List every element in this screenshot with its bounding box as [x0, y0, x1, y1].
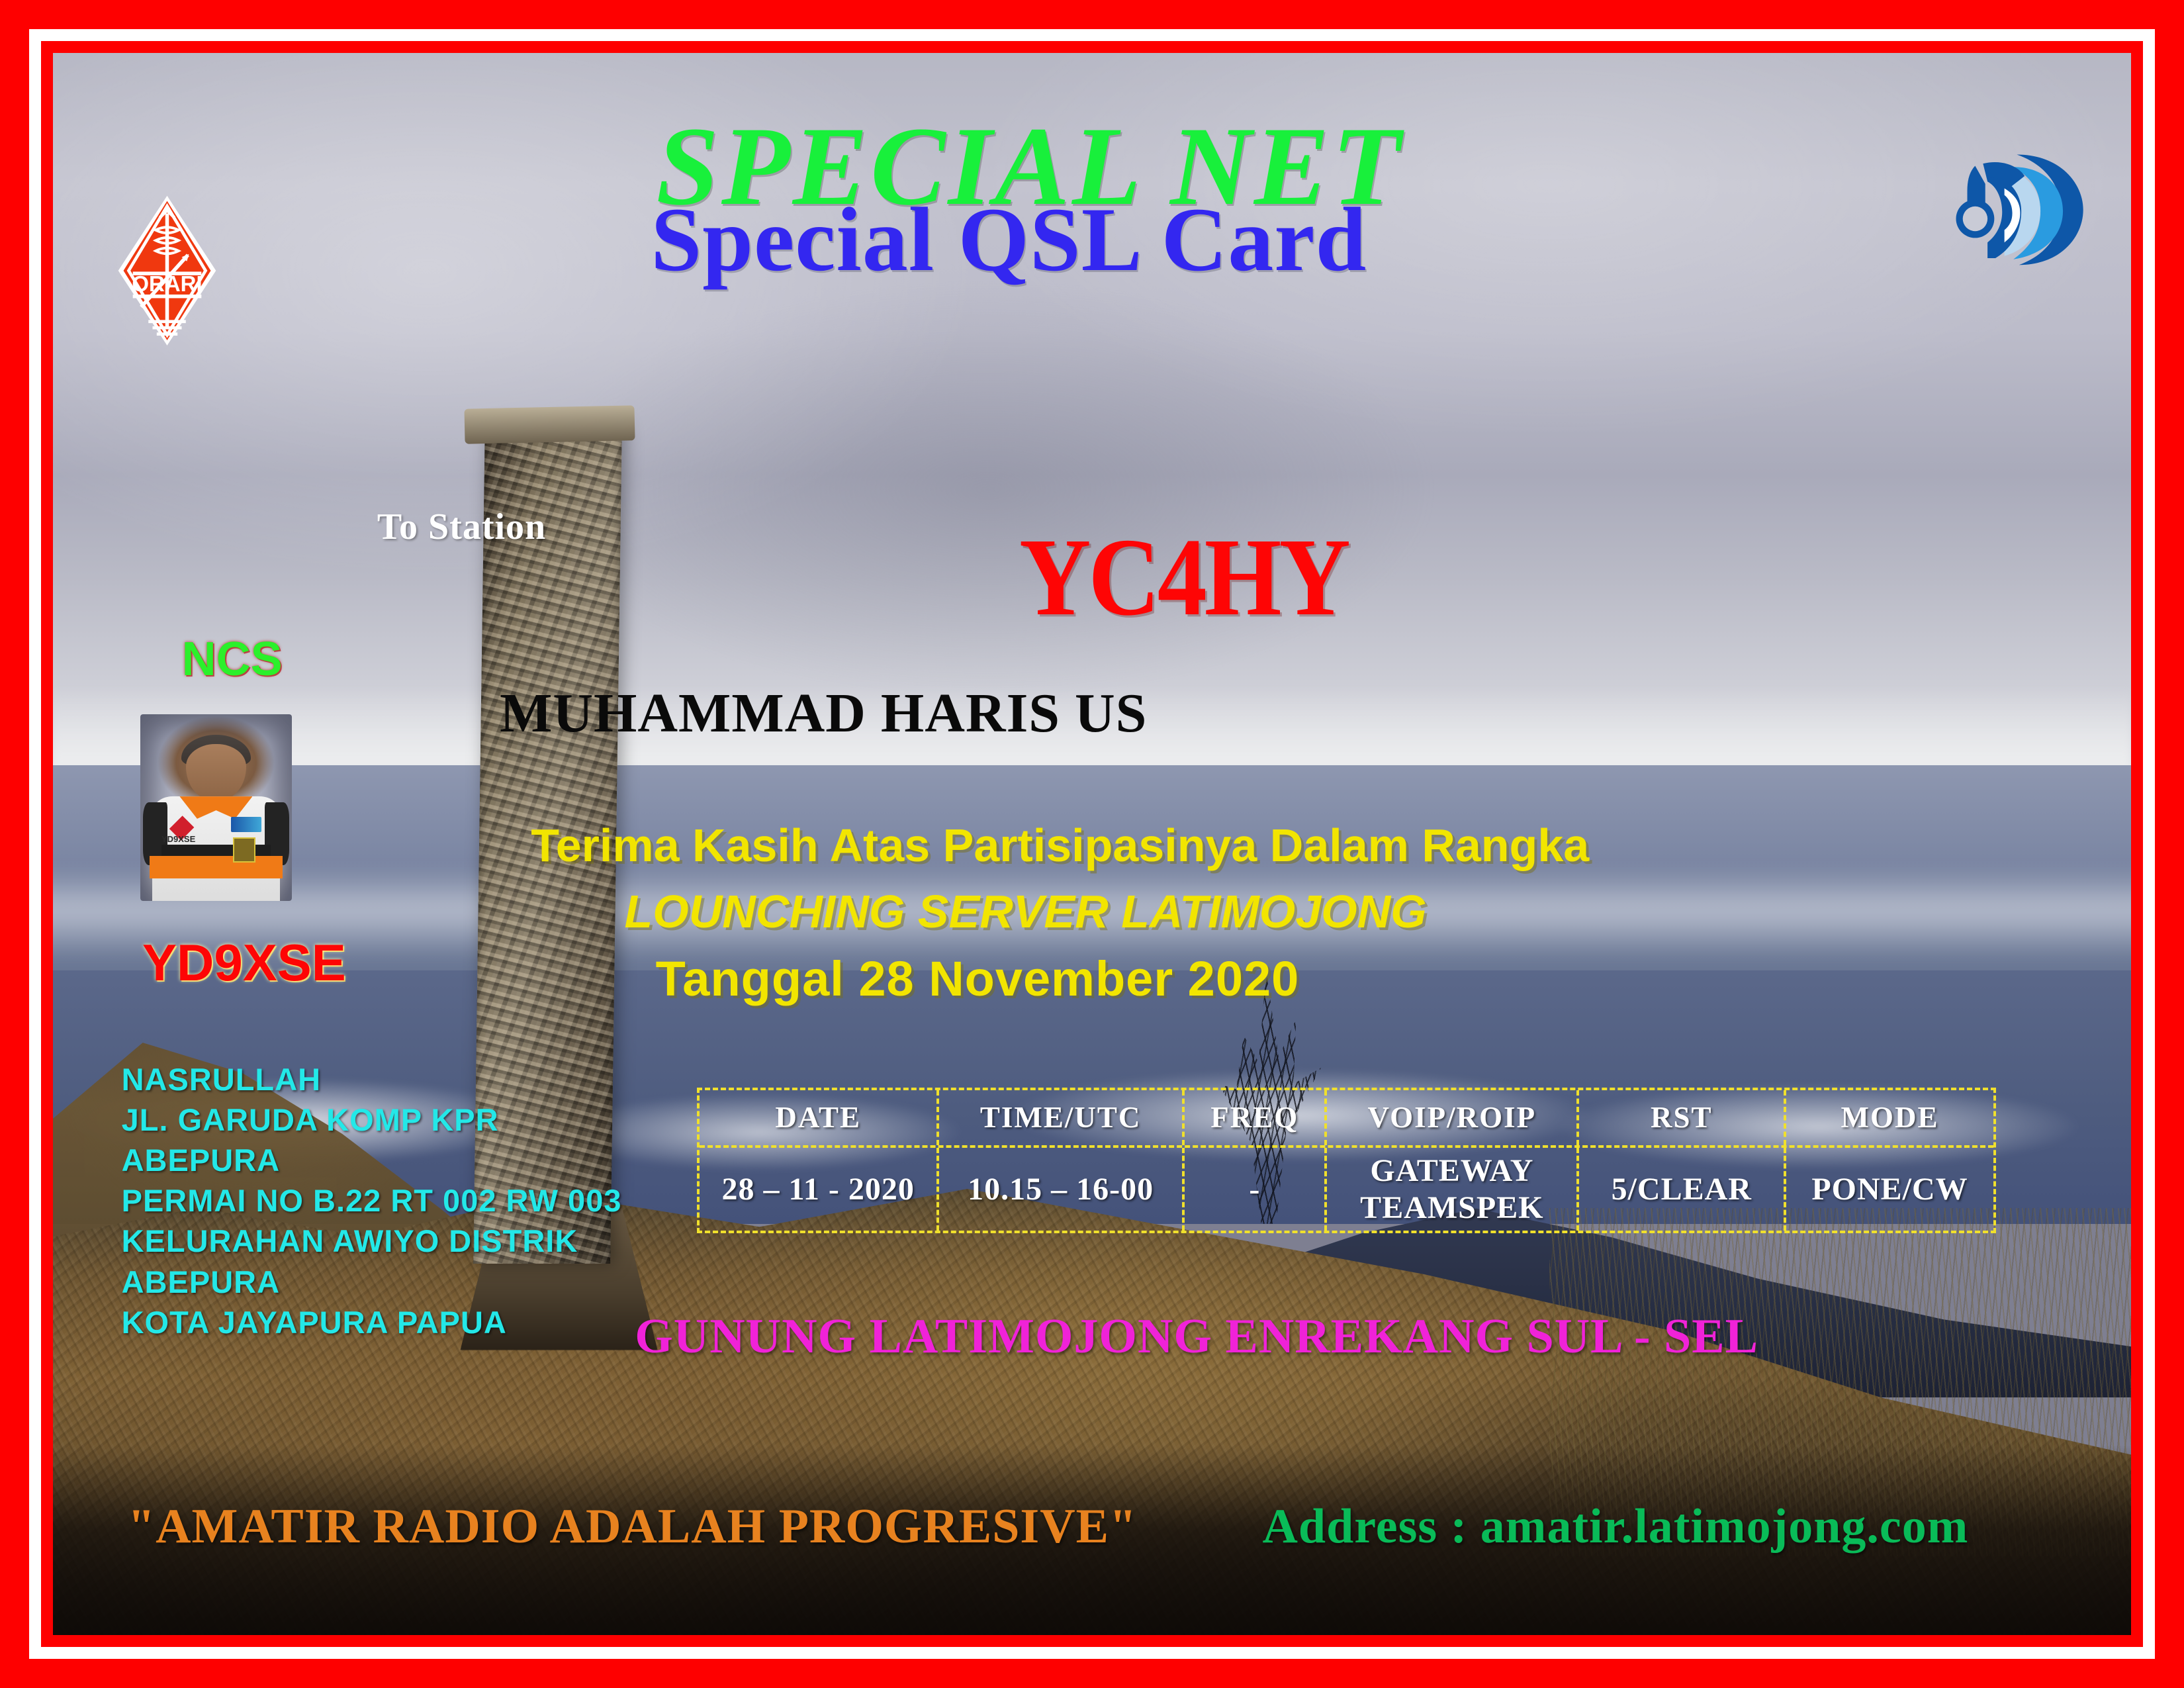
ncs-label: NCS — [182, 632, 283, 686]
address-block: NASRULLAH JL. GARUDA KOMP KPR ABEPURA PE… — [122, 1059, 622, 1342]
address-line: KELURAHAN AWIYO DISTRIK — [122, 1221, 622, 1261]
address-line: ABEPURA — [122, 1140, 622, 1180]
photo-callsign-tag: YD9XSE — [161, 834, 195, 844]
table-cell-date: 28 – 11 - 2020 — [700, 1148, 939, 1231]
address-line: PERMAI NO B.22 RT 002 RW 003 — [122, 1180, 622, 1221]
table-cell-freq: - — [1185, 1148, 1327, 1231]
card-photo-background: ORARI SPECIA — [53, 53, 2131, 1635]
station-callsign: YC4HY — [1019, 522, 1348, 633]
table-header-mode: MODE — [1786, 1090, 1993, 1145]
table-header-voip: VOIP/ROIP — [1327, 1090, 1579, 1145]
photo-face — [186, 744, 247, 800]
table-cell-rst: 5/CLEAR — [1579, 1148, 1786, 1231]
table-cell-time: 10.15 – 16-00 — [939, 1148, 1185, 1231]
table-header-time: TIME/UTC — [939, 1090, 1185, 1145]
event-location: GUNUNG LATIMOJONG ENREKANG SUL - SEL — [53, 1312, 2131, 1361]
qsl-card: ORARI SPECIA — [0, 0, 2184, 1688]
photo-sash — [150, 856, 283, 878]
table-cell-mode: PONE/CW — [1786, 1148, 1993, 1231]
event-name: LOUNCHING SERVER LATIMOJONG — [53, 888, 2131, 935]
thanks-line: Terima Kasih Atas Partisipasinya Dalam R… — [53, 822, 2131, 868]
table-header-rst: RST — [1579, 1090, 1786, 1145]
table-header-row: DATE TIME/UTC FREQ VOIP/ROIP RST MODE — [700, 1090, 1993, 1145]
page-subtitle: Special QSL Card — [53, 194, 2048, 285]
qso-table: DATE TIME/UTC FREQ VOIP/ROIP RST MODE 28… — [697, 1088, 1996, 1233]
photo-chest-patch — [231, 817, 261, 832]
table-cell-voip: GATEWAY TEAMSPEK — [1327, 1148, 1579, 1231]
table-header-freq: FREQ — [1185, 1090, 1327, 1145]
event-date: Tanggal 28 November 2020 — [53, 955, 2131, 1004]
footer-motto: "AMATIR RADIO ADALAH PROGRESIVE" — [128, 1502, 1137, 1551]
to-station-label: To Station — [377, 506, 546, 548]
address-line: JL. GARUDA KOMP KPR — [122, 1100, 622, 1140]
table-row: 28 – 11 - 2020 10.15 – 16-00 - GATEWAY T… — [700, 1145, 1993, 1231]
table-header-date: DATE — [700, 1090, 939, 1145]
operator-name: MUHAMMAD HARIS US — [53, 686, 2131, 741]
footer-address: Address : amatir.latimojong.com — [1262, 1502, 1968, 1551]
ncs-callsign: YD9XSE — [142, 933, 346, 993]
address-line: ABEPURA — [122, 1262, 622, 1302]
photo-id-card — [233, 837, 255, 863]
ncs-operator-photo: YD9XSE — [140, 714, 292, 901]
address-line: NASRULLAH — [122, 1059, 622, 1100]
